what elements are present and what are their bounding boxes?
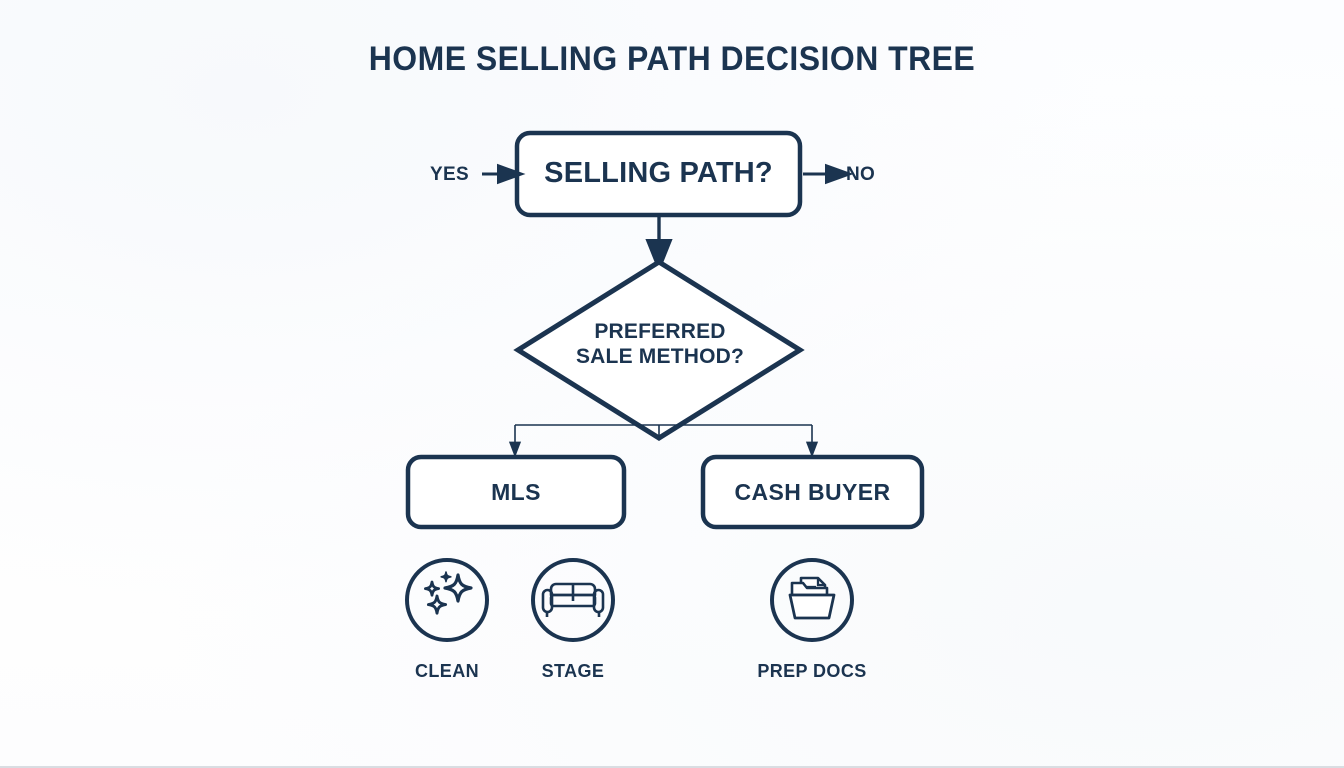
diagram-canvas: HOME SELLING PATH DECISION TREE bbox=[0, 0, 1344, 768]
root-node-label: SELLING PATH? bbox=[517, 156, 800, 190]
folder-documents-icon bbox=[772, 560, 852, 640]
outcome-label-mls: MLS bbox=[430, 479, 602, 506]
diagram-shapes bbox=[0, 0, 1344, 768]
task-label-clean: CLEAN bbox=[377, 661, 517, 682]
yes-branch-label: YES bbox=[430, 164, 469, 186]
task-label-stage: STAGE bbox=[503, 661, 643, 682]
decision-node-label: PREFERRED SALE METHOD? bbox=[540, 320, 780, 370]
task-label-prep-docs: PREP DOCS bbox=[727, 661, 897, 682]
sofa-icon bbox=[533, 560, 613, 640]
no-branch-label: NO bbox=[846, 164, 875, 186]
sparkles-icon bbox=[407, 560, 487, 640]
outcome-label-cash-buyer: CASH BUYER bbox=[703, 479, 922, 506]
